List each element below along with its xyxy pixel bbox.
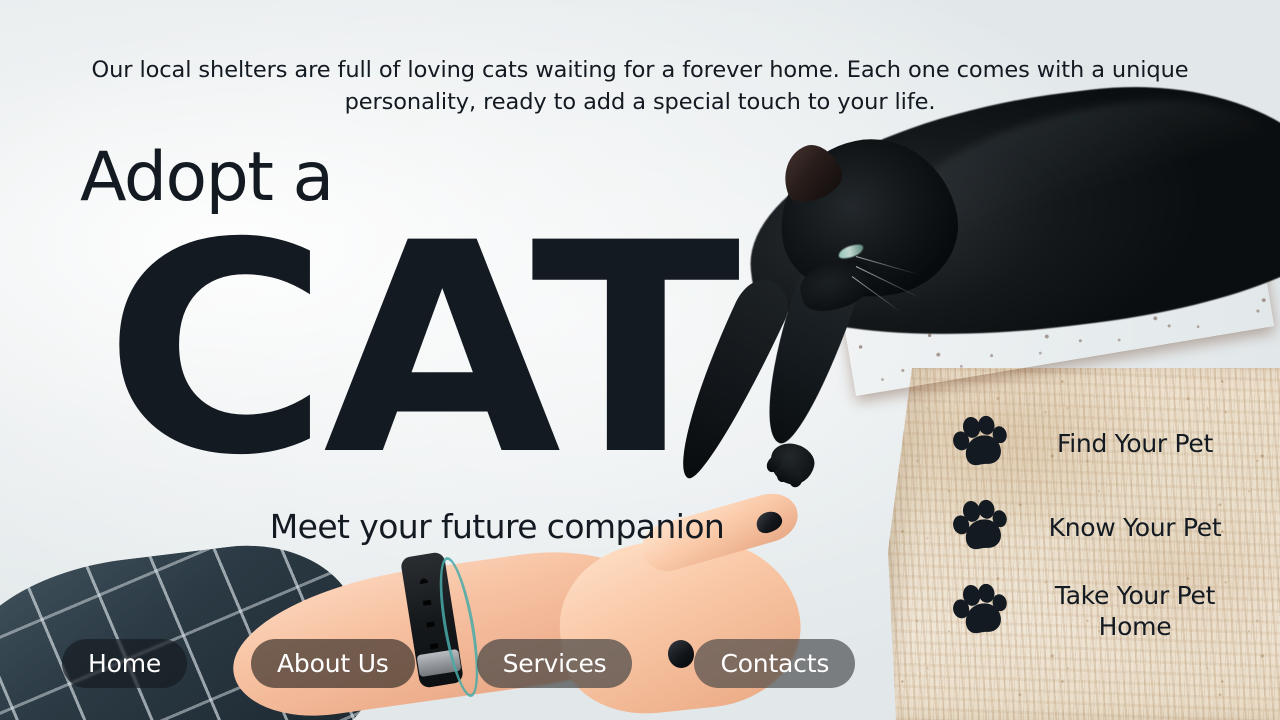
feature-item-take-your-pet-home[interactable]: Take Your Pet Home: [952, 580, 1248, 642]
nav-item-services[interactable]: Services: [477, 639, 633, 688]
main-navigation: Home About Us Services Contacts: [62, 639, 855, 688]
nav-item-about-us[interactable]: About Us: [251, 639, 415, 688]
feature-label: Find Your Pet: [1022, 428, 1248, 459]
feature-label: Take Your Pet Home: [1022, 580, 1248, 642]
nav-item-home[interactable]: Home: [62, 639, 187, 688]
feature-list: Find Your Pet Know Your Pet: [952, 412, 1248, 642]
paw-print-icon: [952, 414, 1008, 472]
paw-print-icon: [952, 582, 1008, 640]
nav-item-contacts[interactable]: Contacts: [694, 639, 855, 688]
feature-item-find-your-pet[interactable]: Find Your Pet: [952, 412, 1248, 474]
feature-label: Know Your Pet: [1022, 512, 1248, 543]
tagline: Meet your future companion: [0, 506, 994, 548]
intro-paragraph: Our local shelters are full of loving ca…: [90, 54, 1190, 118]
paw-print-icon: [952, 498, 1008, 556]
feature-item-know-your-pet[interactable]: Know Your Pet: [952, 496, 1248, 558]
hero-stage: Our local shelters are full of loving ca…: [0, 0, 1280, 720]
page-title: CAT: [104, 206, 734, 496]
